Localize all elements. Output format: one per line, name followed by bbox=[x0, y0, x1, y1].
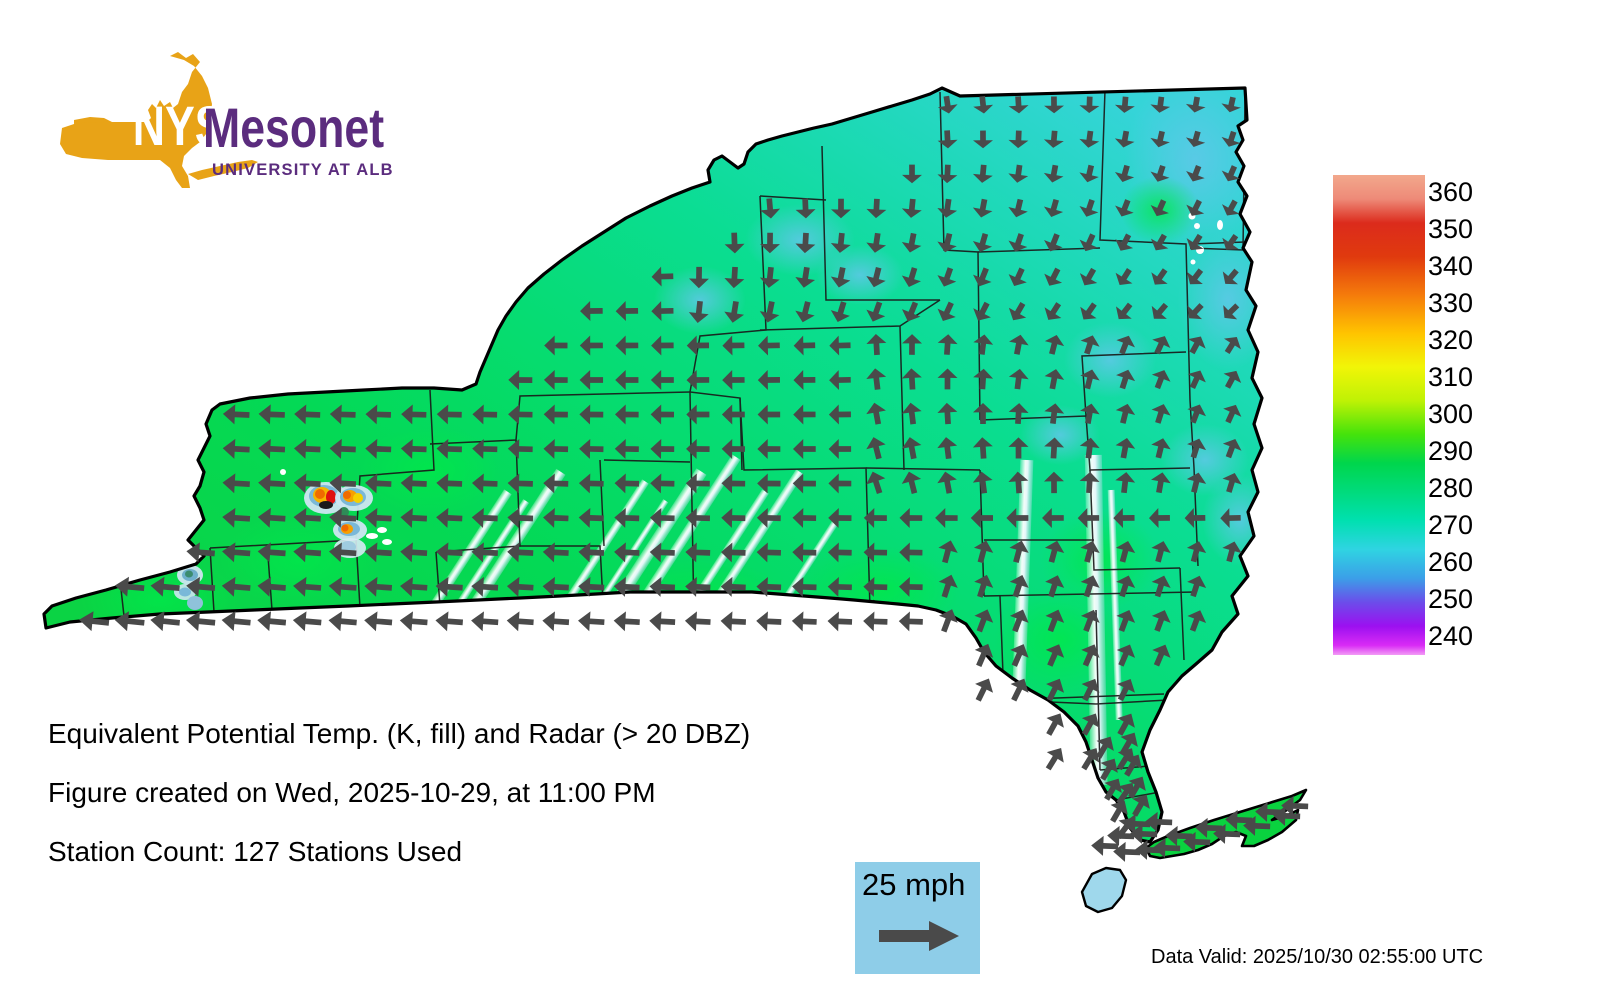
colorbar-tick-310: 310 bbox=[1428, 364, 1473, 391]
staten-island bbox=[1070, 860, 1140, 920]
wind-arrow bbox=[221, 610, 252, 632]
wind-arrow bbox=[756, 611, 782, 632]
colorbar-tick-320: 320 bbox=[1428, 327, 1473, 354]
wind-arrow bbox=[898, 611, 923, 632]
data-valid-timestamp: Data Valid: 2025/10/30 02:55:00 UTC bbox=[1151, 946, 1483, 969]
colorbar: 360350340330320310300290280270260250240 bbox=[1333, 175, 1493, 657]
wind-arrow bbox=[542, 611, 570, 633]
wind-arrow bbox=[256, 610, 286, 632]
wind-arrow bbox=[827, 611, 852, 632]
wind-arrow bbox=[506, 611, 534, 633]
wind-arrow bbox=[399, 610, 428, 632]
caption-station-count: Station Count: 127 Stations Used bbox=[48, 836, 928, 868]
wind-arrow bbox=[649, 611, 676, 632]
colorbar-gradient bbox=[1333, 175, 1425, 655]
wind-arrow bbox=[328, 610, 358, 632]
wind-arrow bbox=[969, 674, 998, 705]
wind-speed-legend: 25 mph bbox=[855, 862, 980, 974]
colorbar-tick-250: 250 bbox=[1428, 586, 1473, 613]
wind-arrow bbox=[720, 611, 746, 632]
wind-arrow bbox=[470, 611, 498, 633]
colorbar-tick-290: 290 bbox=[1428, 438, 1473, 465]
wind-arrow bbox=[863, 611, 888, 632]
weather-map-figure: NYS Mesonet UNIVERSITY AT ALBANY bbox=[0, 0, 1600, 1000]
wind-legend-label: 25 mph bbox=[862, 867, 965, 903]
colorbar-tick-330: 330 bbox=[1428, 290, 1473, 317]
colorbar-tick-260: 260 bbox=[1428, 549, 1473, 576]
colorbar-tick-350: 350 bbox=[1428, 216, 1473, 243]
wind-arrow bbox=[1040, 743, 1070, 774]
wind-arrow bbox=[684, 611, 711, 632]
wind-arrow bbox=[435, 610, 464, 632]
caption-title: Equivalent Potential Temp. (K, fill) and… bbox=[48, 718, 928, 750]
wind-arrow bbox=[363, 610, 392, 632]
wind-arrow bbox=[613, 611, 640, 632]
colorbar-tick-360: 360 bbox=[1428, 179, 1473, 206]
wind-arrow-icon bbox=[879, 919, 961, 953]
colorbar-tick-labels: 360350340330320310300290280270260250240 bbox=[1428, 175, 1498, 655]
colorbar-tick-340: 340 bbox=[1428, 253, 1473, 280]
colorbar-tick-300: 300 bbox=[1428, 401, 1473, 428]
colorbar-tick-240: 240 bbox=[1428, 623, 1473, 650]
wind-arrow bbox=[292, 610, 322, 632]
colorbar-tick-270: 270 bbox=[1428, 512, 1473, 539]
caption-block: Equivalent Potential Temp. (K, fill) and… bbox=[48, 718, 928, 895]
caption-created: Figure created on Wed, 2025-10-29, at 11… bbox=[48, 777, 928, 809]
wind-arrow bbox=[791, 611, 817, 632]
wind-arrow bbox=[577, 611, 605, 632]
colorbar-tick-280: 280 bbox=[1428, 475, 1473, 502]
